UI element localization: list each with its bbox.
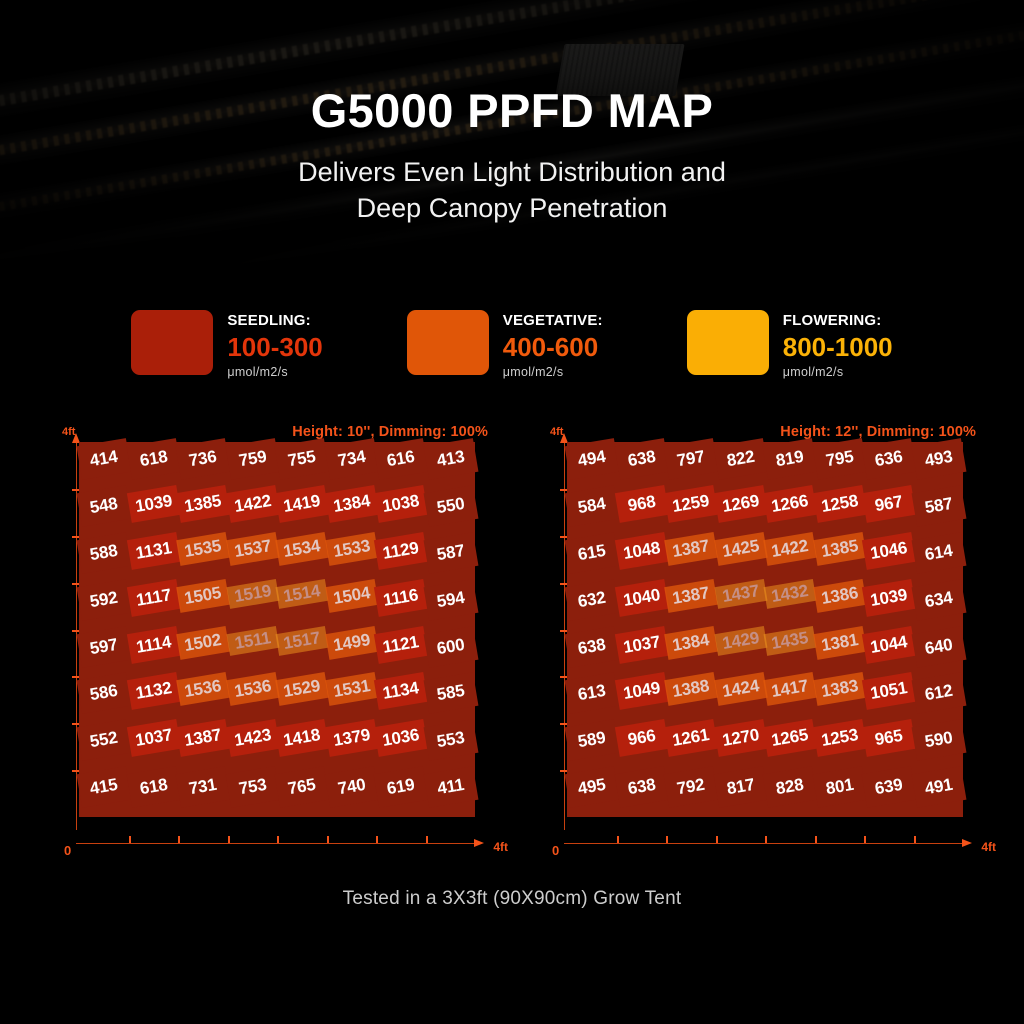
legend-ppfd-range: 800-1000 xyxy=(783,332,893,364)
ppfd-cell: 1536 xyxy=(176,672,229,706)
ppfd-cell: 828 xyxy=(763,766,817,808)
ppfd-cell: 731 xyxy=(176,766,230,808)
ppfd-cell: 548 xyxy=(77,485,131,527)
x-axis-tick xyxy=(914,836,916,843)
ppfd-cell: 1502 xyxy=(176,626,229,660)
page-subtitle: Delivers Even Light Distribution and Dee… xyxy=(0,155,1024,226)
ppfd-cell: 634 xyxy=(911,579,965,621)
ppfd-cell: 1422 xyxy=(763,532,816,566)
x-axis-tick xyxy=(617,836,619,843)
y-axis-tick xyxy=(72,489,79,491)
ppfd-cell: 638 xyxy=(565,626,619,668)
ppfd-cell: 1533 xyxy=(325,532,378,566)
ppfd-legend: SEEDLING:100-300μmol/m2/sVEGETATIVE:400-… xyxy=(0,310,1024,379)
ppfd-cell: 552 xyxy=(77,719,131,761)
ppfd-cell: 594 xyxy=(423,579,477,621)
ppfd-cell: 1385 xyxy=(813,532,866,566)
ppfd-cell: 1265 xyxy=(763,719,817,757)
ppfd-cell: 965 xyxy=(862,719,916,757)
ppfd-cell: 1535 xyxy=(176,532,229,566)
legend-stage-label: SEEDLING: xyxy=(227,312,322,331)
ppfd-cell: 1536 xyxy=(226,672,279,706)
ppfd-heatmap-grid: 4146187367597557346164135481039138514221… xyxy=(79,442,475,817)
y-axis-tick xyxy=(72,536,79,538)
ppfd-cell: 1419 xyxy=(275,485,329,523)
x-axis-tick xyxy=(327,836,329,843)
ppfd-cell: 494 xyxy=(565,438,619,480)
ppfd-cell: 618 xyxy=(126,438,180,480)
ppfd-cell: 1051 xyxy=(862,672,916,710)
ppfd-cell: 1039 xyxy=(862,579,916,617)
ppfd-cell: 1388 xyxy=(664,672,717,706)
ppfd-cell: 1039 xyxy=(126,485,180,523)
ppfd-cell: 968 xyxy=(614,485,668,523)
ppfd-cell: 1049 xyxy=(614,672,668,710)
ppfd-cell: 1432 xyxy=(764,579,816,609)
ppfd-cell: 1044 xyxy=(862,626,916,664)
ppfd-map-height-10in: Height: 10'', Dimming: 100%4ft04ft414618… xyxy=(58,424,488,856)
legend-text-block: VEGETATIVE:400-600μmol/m2/s xyxy=(503,310,603,379)
ppfd-cell: 614 xyxy=(911,532,965,574)
subtitle-line-2: Deep Canopy Penetration xyxy=(0,191,1024,227)
test-conditions-caption: Tested in a 3X3ft (90X90cm) Grow Tent xyxy=(0,888,1024,910)
x-axis-tick xyxy=(864,836,866,843)
ppfd-cell: 1048 xyxy=(614,532,668,570)
ppfd-cell: 1511 xyxy=(226,626,278,656)
legend-item-seedling: SEEDLING:100-300μmol/m2/s xyxy=(131,310,322,379)
ppfd-cell: 550 xyxy=(423,485,477,527)
title-block: G5000 PPFD MAP Delivers Even Light Distr… xyxy=(0,86,1024,227)
ppfd-cell: 1423 xyxy=(225,719,279,757)
ppfd-cell: 1519 xyxy=(226,579,278,609)
ppfd-cell: 636 xyxy=(862,438,916,480)
ppfd-cell: 1131 xyxy=(126,532,180,570)
ppfd-cell: 1504 xyxy=(325,579,378,613)
y-axis-tick xyxy=(560,630,567,632)
ppfd-cell: 639 xyxy=(862,766,916,808)
ppfd-cell: 584 xyxy=(565,485,619,527)
ppfd-cell: 616 xyxy=(374,438,428,480)
ppfd-cell: 1379 xyxy=(324,719,378,757)
y-axis-tick xyxy=(72,676,79,678)
x-axis-tick xyxy=(376,836,378,843)
x-axis-tick xyxy=(666,836,668,843)
ppfd-cell: 817 xyxy=(713,766,767,808)
x-axis-tick xyxy=(277,836,279,843)
ppfd-cell: 1531 xyxy=(325,672,378,706)
ppfd-cell: 1270 xyxy=(713,719,767,757)
ppfd-cell: 736 xyxy=(176,438,230,480)
ppfd-cell: 1117 xyxy=(126,579,180,617)
x-axis-tick xyxy=(765,836,767,843)
ppfd-cell: 1387 xyxy=(664,532,717,566)
ppfd-cell: 967 xyxy=(862,485,916,523)
x-axis-tick xyxy=(228,836,230,843)
y-axis-tick xyxy=(72,723,79,725)
ppfd-cell: 1435 xyxy=(764,626,816,656)
legend-unit-label: μmol/m2/s xyxy=(227,365,322,379)
ppfd-cell: 1387 xyxy=(176,719,230,757)
x-axis-tick xyxy=(426,836,428,843)
ppfd-cell: 586 xyxy=(77,673,131,715)
y-axis-tick xyxy=(560,536,567,538)
ppfd-cell: 414 xyxy=(77,438,131,480)
y-axis-tick xyxy=(72,630,79,632)
legend-stage-label: VEGETATIVE: xyxy=(503,312,603,331)
ppfd-cell: 734 xyxy=(324,438,378,480)
ppfd-cell: 1269 xyxy=(713,485,767,523)
ppfd-cell: 1116 xyxy=(374,579,428,617)
legend-color-swatch xyxy=(687,310,769,375)
ppfd-cell: 411 xyxy=(423,766,477,808)
ppfd-cell: 1114 xyxy=(126,626,180,664)
ppfd-heatmap-grid: 4946387978228197956364935849681259126912… xyxy=(567,442,963,817)
ppfd-cell: 1387 xyxy=(664,579,717,613)
ppfd-cell: 740 xyxy=(324,766,378,808)
ppfd-cell: 613 xyxy=(565,673,619,715)
ppfd-cell: 619 xyxy=(374,766,428,808)
ppfd-cell: 1038 xyxy=(374,485,428,523)
ppfd-cell: 587 xyxy=(911,485,965,527)
ppfd-cell: 553 xyxy=(423,719,477,761)
subtitle-line-1: Delivers Even Light Distribution and xyxy=(0,155,1024,191)
ppfd-cell: 765 xyxy=(275,766,329,808)
ppfd-cell: 618 xyxy=(126,766,180,808)
ppfd-cell: 1266 xyxy=(763,485,817,523)
y-axis-tick xyxy=(72,583,79,585)
ppfd-cell: 797 xyxy=(664,438,718,480)
ppfd-cell: 966 xyxy=(614,719,668,757)
y-axis-tick xyxy=(560,489,567,491)
ppfd-cell: 1534 xyxy=(275,532,328,566)
legend-ppfd-range: 100-300 xyxy=(227,332,322,364)
page-title: G5000 PPFD MAP xyxy=(0,86,1024,135)
legend-color-swatch xyxy=(131,310,213,375)
ppfd-cell: 1261 xyxy=(664,719,718,757)
y-axis-tick xyxy=(560,676,567,678)
legend-ppfd-range: 400-600 xyxy=(503,332,603,364)
ppfd-cell: 1037 xyxy=(126,719,180,757)
ppfd-cell: 600 xyxy=(423,626,477,668)
x-axis-max-label: 4ft xyxy=(493,840,508,854)
ppfd-cell: 1537 xyxy=(226,532,279,566)
ppfd-cell: 588 xyxy=(77,532,131,574)
y-axis-tick xyxy=(72,770,79,772)
ppfd-cell: 1429 xyxy=(714,626,766,656)
ppfd-cell: 632 xyxy=(565,579,619,621)
y-axis-tick xyxy=(560,770,567,772)
legend-text-block: FLOWERING:800-1000μmol/m2/s xyxy=(783,310,893,379)
legend-stage-label: FLOWERING: xyxy=(783,312,893,331)
ppfd-cell: 590 xyxy=(911,719,965,761)
ppfd-map-height-12in: Height: 12'', Dimming: 100%4ft04ft494638… xyxy=(546,424,976,856)
ppfd-cell: 1499 xyxy=(325,626,378,660)
ppfd-cell: 1259 xyxy=(664,485,718,523)
ppfd-cell: 753 xyxy=(225,766,279,808)
legend-item-vegetative: VEGETATIVE:400-600μmol/m2/s xyxy=(407,310,603,379)
legend-item-flowering: FLOWERING:800-1000μmol/m2/s xyxy=(687,310,893,379)
ppfd-cell: 801 xyxy=(812,766,866,808)
ppfd-cell: 612 xyxy=(911,673,965,715)
ppfd-cell: 1258 xyxy=(812,485,866,523)
ppfd-cell: 759 xyxy=(225,438,279,480)
ppfd-cell: 615 xyxy=(565,532,619,574)
ppfd-cell: 638 xyxy=(614,438,668,480)
ppfd-cell: 585 xyxy=(423,673,477,715)
ppfd-cell: 795 xyxy=(812,438,866,480)
ppfd-cell: 1505 xyxy=(176,579,229,613)
y-axis-tick xyxy=(560,583,567,585)
ppfd-cell: 587 xyxy=(423,532,477,574)
ppfd-cell: 1121 xyxy=(374,626,428,664)
ppfd-cell: 755 xyxy=(275,438,329,480)
x-axis-line xyxy=(564,843,962,844)
x-axis-line xyxy=(76,843,474,844)
ppfd-cell: 1383 xyxy=(813,672,866,706)
ppfd-cell: 1529 xyxy=(275,672,328,706)
ppfd-cell: 1417 xyxy=(763,672,816,706)
x-axis-tick xyxy=(178,836,180,843)
x-axis-tick xyxy=(716,836,718,843)
legend-unit-label: μmol/m2/s xyxy=(503,365,603,379)
ppfd-cell: 1253 xyxy=(812,719,866,757)
ppfd-cell: 1386 xyxy=(813,579,866,613)
ppfd-cell: 1514 xyxy=(276,579,328,609)
ppfd-cell: 493 xyxy=(911,438,965,480)
ppfd-cell: 819 xyxy=(763,438,817,480)
ppfd-cell: 638 xyxy=(614,766,668,808)
ppfd-cell: 1517 xyxy=(276,626,328,656)
ppfd-cell: 1037 xyxy=(614,626,668,664)
x-axis-tick xyxy=(815,836,817,843)
ppfd-cell: 1422 xyxy=(225,485,279,523)
legend-unit-label: μmol/m2/s xyxy=(783,365,893,379)
legend-text-block: SEEDLING:100-300μmol/m2/s xyxy=(227,310,322,379)
ppfd-cell: 1425 xyxy=(714,532,767,566)
ppfd-cell: 413 xyxy=(423,438,477,480)
x-axis-tick xyxy=(129,836,131,843)
ppfd-cell: 592 xyxy=(77,579,131,621)
legend-color-swatch xyxy=(407,310,489,375)
ppfd-cell: 1040 xyxy=(614,579,668,617)
ppfd-cell: 1134 xyxy=(374,672,428,710)
x-axis-max-label: 4ft xyxy=(981,840,996,854)
ppfd-cell: 1381 xyxy=(813,626,866,660)
ppfd-cell: 792 xyxy=(664,766,718,808)
ppfd-cell: 1385 xyxy=(176,485,230,523)
y-axis-tick xyxy=(560,723,567,725)
ppfd-cell: 597 xyxy=(77,626,131,668)
ppfd-cell: 1046 xyxy=(862,532,916,570)
ppfd-cell: 1132 xyxy=(126,672,180,710)
ppfd-cell: 415 xyxy=(77,766,131,808)
ppfd-cell: 1129 xyxy=(374,532,428,570)
ppfd-cell: 589 xyxy=(565,719,619,761)
ppfd-cell: 1384 xyxy=(664,626,717,660)
ppfd-cell: 1036 xyxy=(374,719,428,757)
x-axis-origin-label: 0 xyxy=(64,843,71,858)
ppfd-cell: 495 xyxy=(565,766,619,808)
ppfd-cell: 1384 xyxy=(324,485,378,523)
ppfd-cell: 640 xyxy=(911,626,965,668)
ppfd-cell: 1437 xyxy=(714,579,766,609)
ppfd-cell: 822 xyxy=(713,438,767,480)
x-axis-origin-label: 0 xyxy=(552,843,559,858)
ppfd-cell: 491 xyxy=(911,766,965,808)
ppfd-cell: 1424 xyxy=(714,672,767,706)
ppfd-cell: 1418 xyxy=(275,719,329,757)
